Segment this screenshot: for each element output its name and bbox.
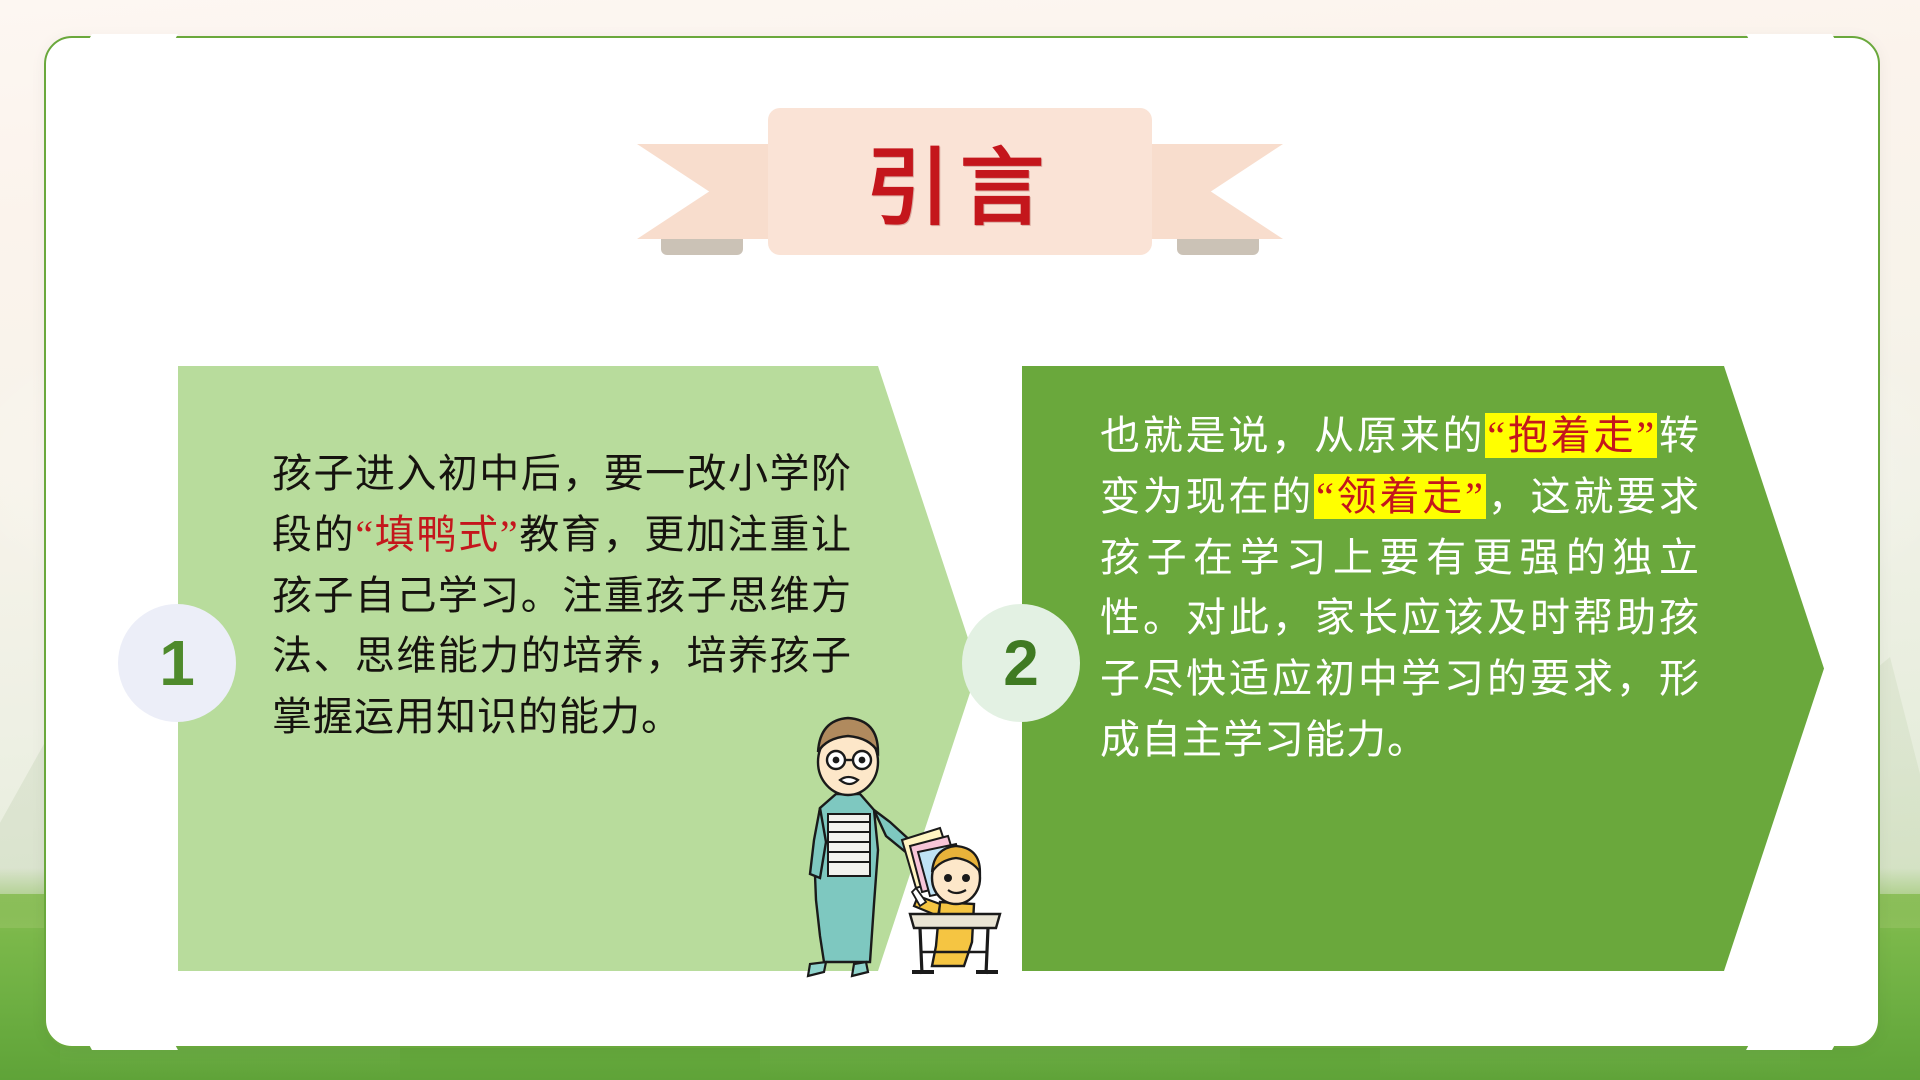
content-panel-2: 2 也就是说，从原来的“抱着走”转变为现在的“领着走”，这就要求孩子在学习上要有… bbox=[1022, 366, 1824, 971]
text-run-0: 也就是说，从原来的 bbox=[1100, 413, 1485, 458]
accent-phrase-1: “填鸭式” bbox=[355, 512, 518, 557]
card-corner-notch-bottom-left bbox=[60, 990, 178, 1050]
highlighted-phrase-3: “领着走” bbox=[1314, 474, 1486, 519]
ribbon-fold-left bbox=[661, 239, 743, 255]
panel-2-arrow-tip bbox=[1724, 366, 1824, 971]
card-corner-notch-top-left bbox=[60, 34, 178, 94]
teacher-and-student-illustration bbox=[790, 690, 1020, 980]
panel-1-text: 孩子进入初中后，要一改小学阶段的“填鸭式”教育，更加注重让孩子自己学习。注重孩子… bbox=[272, 444, 852, 748]
panel-1-number-badge: 1 bbox=[118, 604, 236, 722]
card-corner-notch-bottom-right bbox=[1746, 990, 1864, 1050]
teacher-figure bbox=[808, 718, 914, 976]
ribbon-fold-right bbox=[1177, 239, 1259, 255]
page-title: 引言 bbox=[768, 108, 1152, 255]
title-ribbon: 引言 bbox=[637, 108, 1283, 271]
card-corner-notch-top-right bbox=[1746, 34, 1864, 94]
highlighted-phrase-1: “抱着走” bbox=[1485, 413, 1657, 458]
panel-2-text: 也就是说，从原来的“抱着走”转变为现在的“领着走”，这就要求孩子在学习上要有更强… bbox=[1100, 406, 1700, 771]
